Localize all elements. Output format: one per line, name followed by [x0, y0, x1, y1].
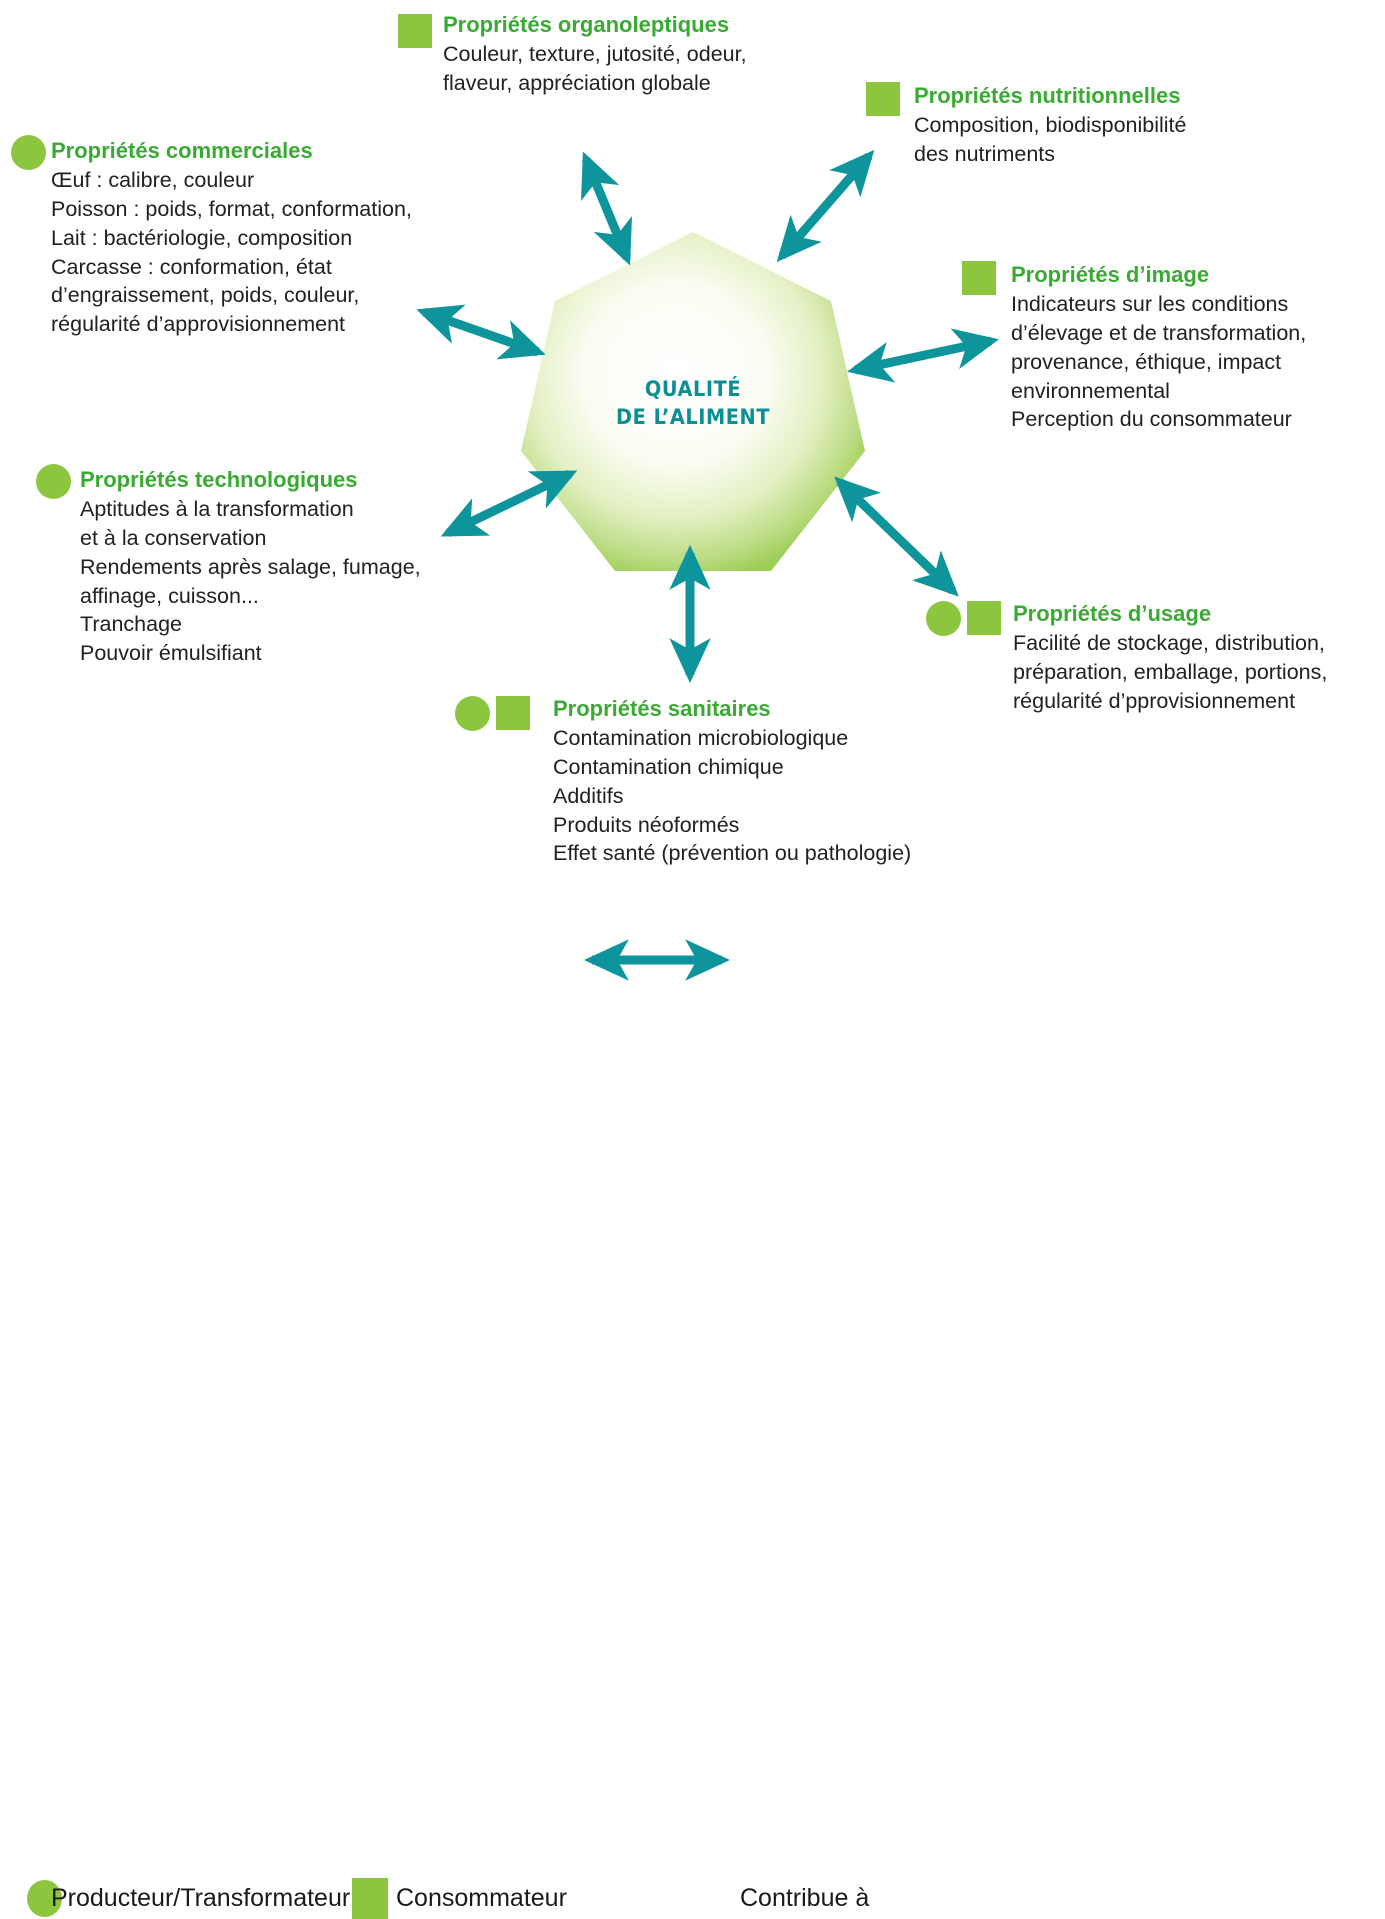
line: affinage, cuisson...: [80, 582, 421, 611]
center-title-line-1: QUALITÉ: [546, 376, 840, 404]
block-usage: Propriétés d’usage Facilité de stockage,…: [1013, 601, 1327, 716]
block-organoleptiques: Propriétés organoleptiques Couleur, text…: [443, 12, 747, 98]
marker-circle-technologiques: [36, 464, 71, 499]
marker-square-organoleptiques: [398, 14, 432, 48]
line: Facilité de stockage, distribution,: [1013, 629, 1327, 658]
line: Lait : bactériologie, composition: [51, 224, 412, 253]
heading-commerciales: Propriétés commerciales: [51, 138, 412, 165]
arrow-commerciales: [424, 312, 538, 352]
line: Composition, biodisponibilité: [914, 111, 1187, 140]
heading-usage: Propriétés d’usage: [1013, 601, 1327, 628]
marker-circle-usage: [926, 601, 961, 636]
heading-organoleptiques: Propriétés organoleptiques: [443, 12, 747, 39]
line: d’engraissement, poids, couleur,: [51, 281, 412, 310]
line: Aptitudes à la transformation: [80, 495, 421, 524]
line: préparation, emballage, portions,: [1013, 658, 1327, 687]
body-technologiques: Aptitudes à la transformation et à la co…: [80, 495, 421, 668]
marker-square-sanitaires: [496, 696, 530, 730]
center-title-line-2: DE L’ALIMENT: [546, 404, 840, 432]
legend-consumer-label: Consommateur: [396, 1884, 567, 1913]
line: Pouvoir émulsifiant: [80, 639, 421, 668]
marker-circle-sanitaires: [455, 696, 490, 731]
marker-square-usage: [967, 601, 1001, 635]
line: Carcasse : conformation, état: [51, 253, 412, 282]
heading-nutritionnelles: Propriétés nutritionnelles: [914, 83, 1187, 110]
line: et à la conservation: [80, 524, 421, 553]
line: Effet santé (prévention ou pathologie): [553, 839, 911, 868]
block-technologiques: Propriétés technologiques Aptitudes à la…: [80, 467, 421, 668]
line: Tranchage: [80, 610, 421, 639]
line: des nutriments: [914, 140, 1187, 169]
line: Poisson : poids, format, conformation,: [51, 195, 412, 224]
body-sanitaires: Contamination microbiologique Contaminat…: [553, 724, 911, 869]
center-title: QUALITÉ DE L’ALIMENT: [546, 376, 840, 431]
block-sanitaires: Propriétés sanitaires Contamination micr…: [553, 696, 911, 868]
line: provenance, éthique, impact: [1011, 348, 1306, 377]
body-organoleptiques: Couleur, texture, jutosité, odeur, flave…: [443, 40, 747, 98]
marker-circle-commerciales: [11, 135, 46, 170]
line: Indicateurs sur les conditions: [1011, 290, 1306, 319]
arrow-image: [855, 341, 991, 370]
line: Couleur, texture, jutosité, odeur,: [443, 40, 747, 69]
legend-consumer-square-icon: [352, 1878, 388, 1919]
line: d’élevage et de transformation,: [1011, 319, 1306, 348]
line: flaveur, appréciation globale: [443, 69, 747, 98]
line: environnemental: [1011, 377, 1306, 406]
body-nutritionnelles: Composition, biodisponibilité des nutrim…: [914, 111, 1187, 169]
line: Additifs: [553, 782, 911, 811]
line: Contamination microbiologique: [553, 724, 911, 753]
legend-arrow-label: Contribue à: [740, 1884, 869, 1913]
line: Perception du consommateur: [1011, 405, 1306, 434]
line: Œuf : calibre, couleur: [51, 166, 412, 195]
diagram-canvas: QUALITÉ DE L’ALIMENT Propriétés organole…: [0, 0, 1385, 1010]
heading-technologiques: Propriétés technologiques: [80, 467, 421, 494]
block-commerciales: Propriétés commerciales Œuf : calibre, c…: [51, 138, 412, 339]
line: régularité d’approvisionnement: [51, 310, 412, 339]
heading-sanitaires: Propriétés sanitaires: [553, 696, 911, 723]
center-node: QUALITÉ DE L’ALIMENT: [533, 232, 853, 552]
block-image: Propriétés d’image Indicateurs sur les c…: [1011, 262, 1306, 434]
line: Rendements après salage, fumage,: [80, 553, 421, 582]
marker-square-image: [962, 261, 996, 295]
arrow-usage: [840, 482, 953, 591]
line: régularité d’pprovisionnement: [1013, 687, 1327, 716]
marker-square-nutritionnelles: [866, 82, 900, 116]
body-image: Indicateurs sur les conditions d’élevage…: [1011, 290, 1306, 435]
line: Produits néoformés: [553, 811, 911, 840]
block-nutritionnelles: Propriétés nutritionnelles Composition, …: [914, 83, 1187, 169]
heading-image: Propriétés d’image: [1011, 262, 1306, 289]
legend-producer-label: Producteur/Transformateur: [51, 1884, 350, 1913]
body-usage: Facilité de stockage, distribution, prép…: [1013, 629, 1327, 716]
body-commerciales: Œuf : calibre, couleur Poisson : poids, …: [51, 166, 412, 339]
line: Contamination chimique: [553, 753, 911, 782]
